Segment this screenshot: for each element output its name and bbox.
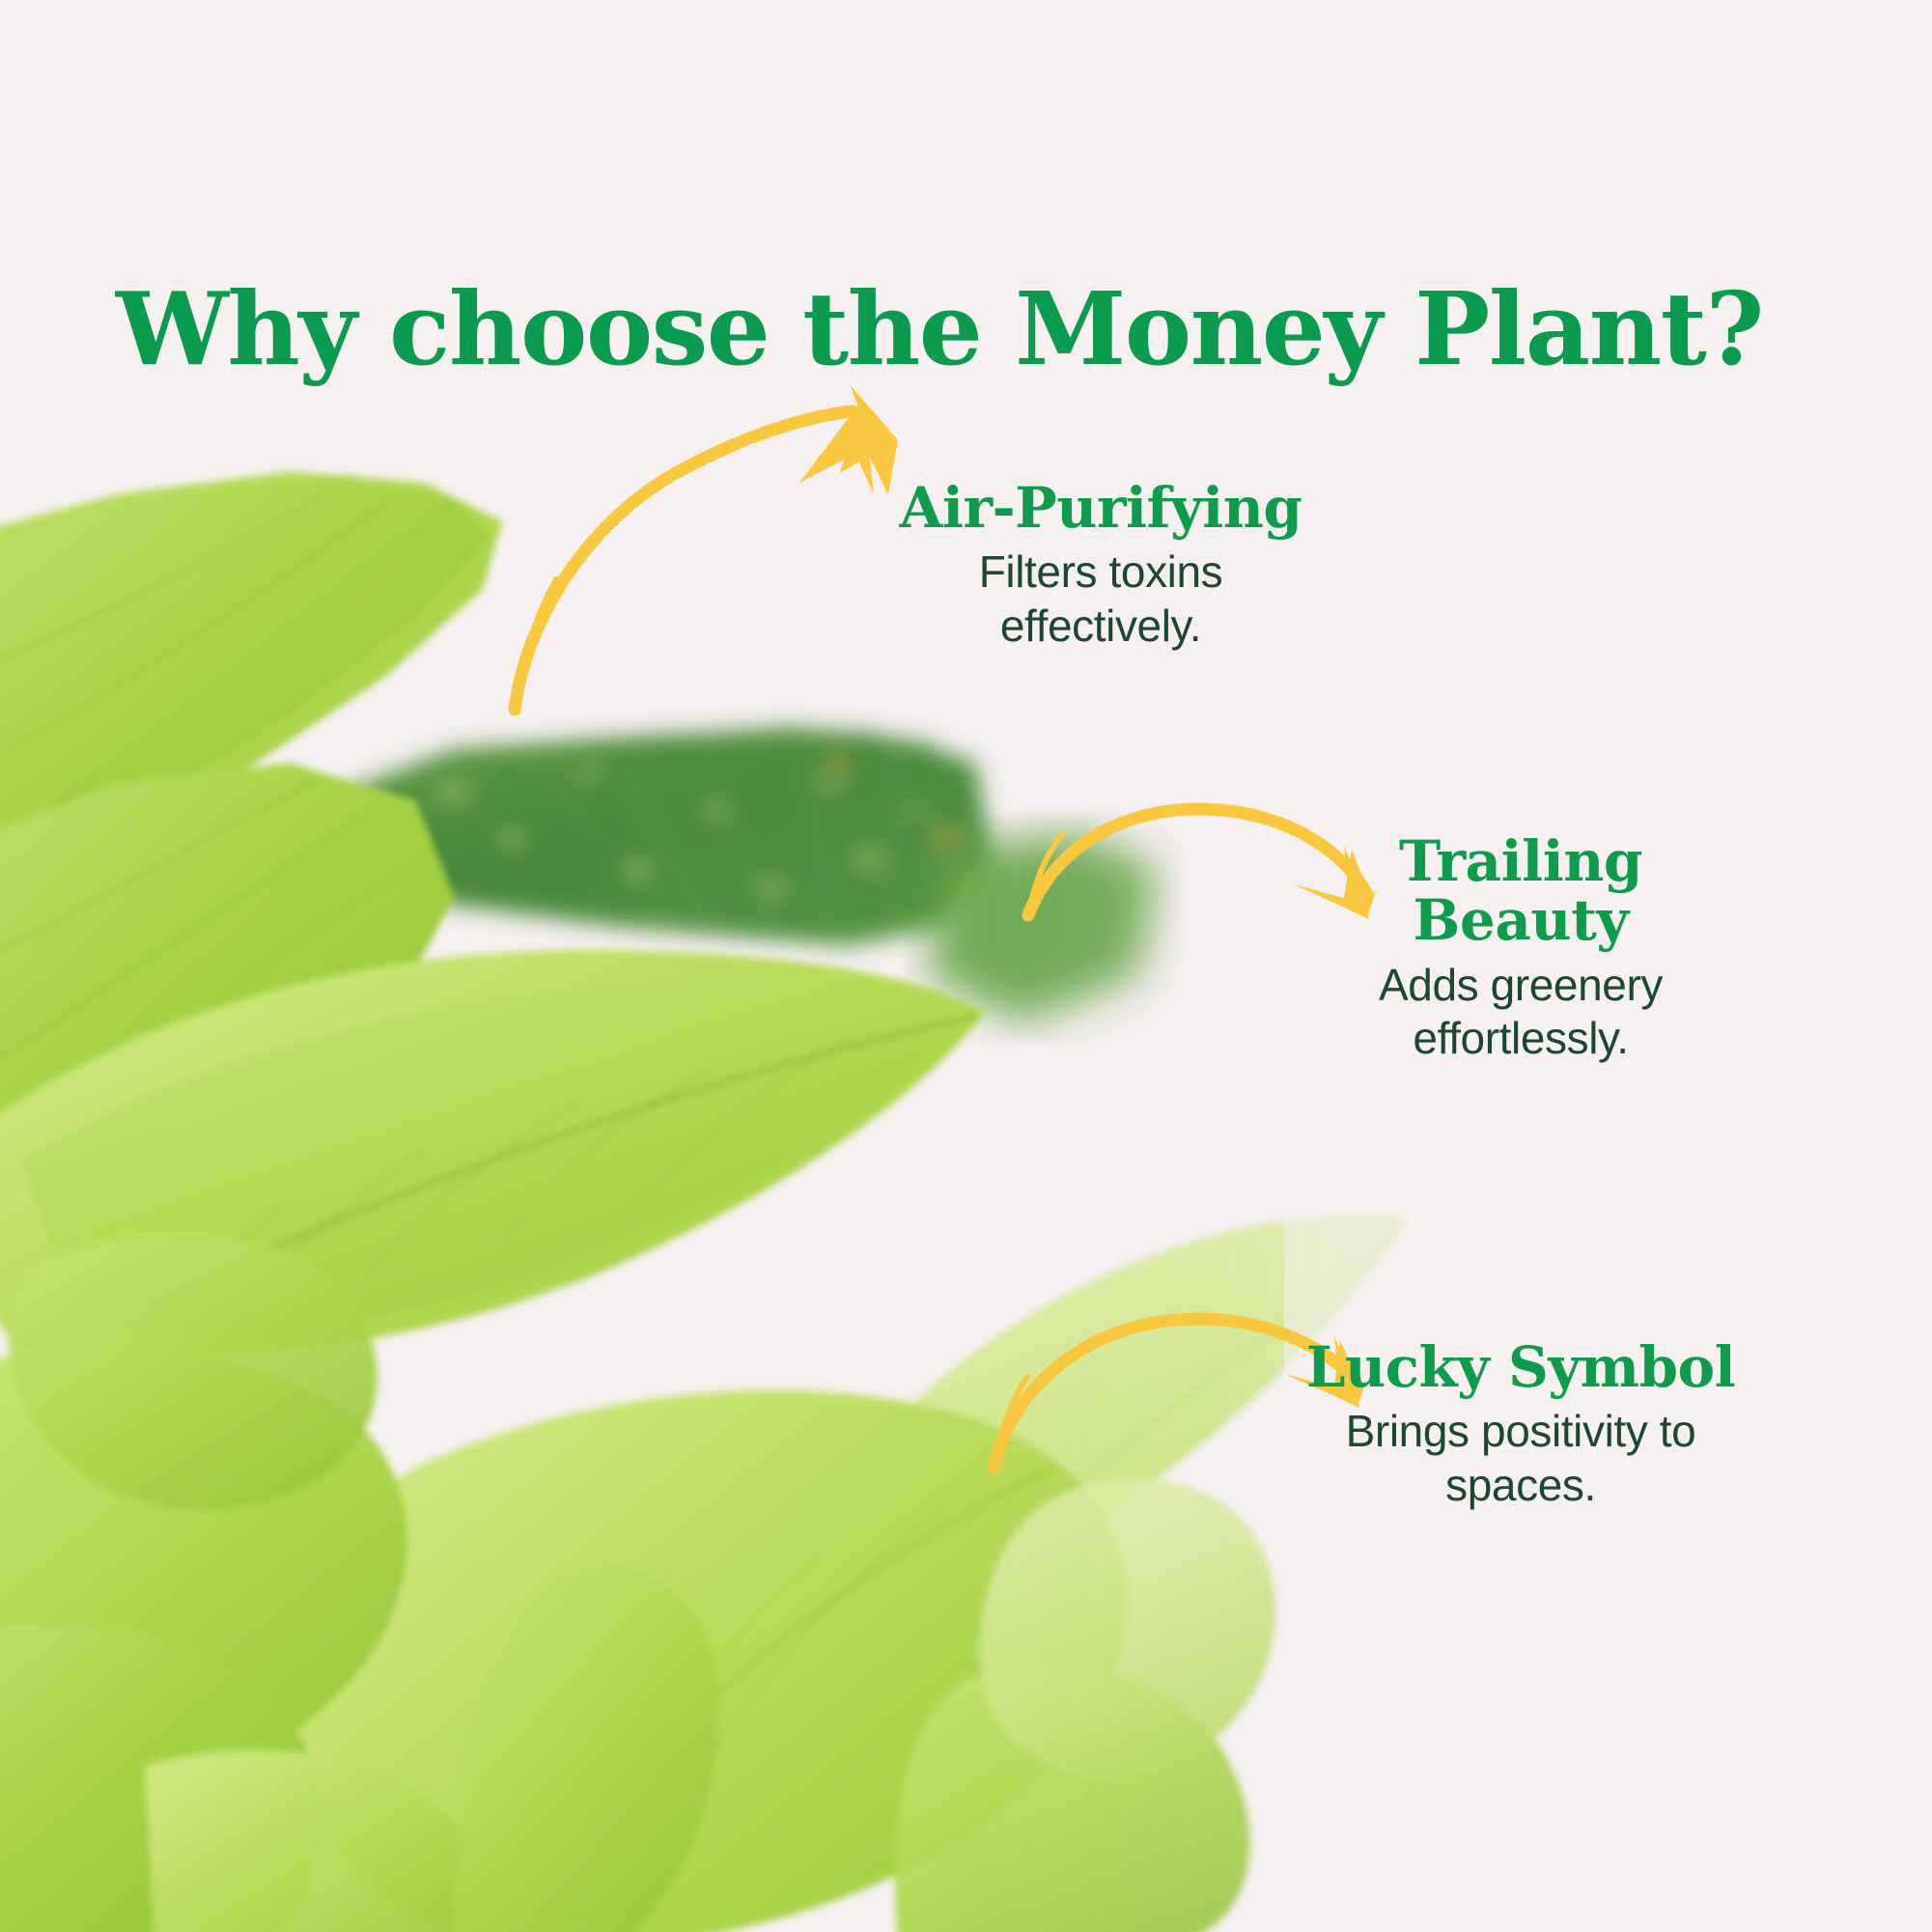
callout-air-purifying: Air-Purifying Filters toxins effectively…	[888, 479, 1313, 653]
page-title: Why choose the Money Plant?	[116, 274, 1763, 384]
callout-body: Adds greenery effortlessly.	[1299, 959, 1743, 1065]
callout-trailing-beauty: Trailing Beauty Adds greenery effortless…	[1299, 832, 1743, 1065]
callout-lucky-symbol: Lucky Symbol Brings positivity to spaces…	[1299, 1338, 1743, 1512]
callout-body: Filters toxins effectively.	[888, 546, 1313, 652]
callout-heading: Lucky Symbol	[1299, 1338, 1743, 1397]
callout-heading: Trailing Beauty	[1299, 832, 1743, 951]
callout-heading: Air-Purifying	[888, 479, 1313, 538]
poster-canvas: Why choose the Money Plant? Air-Purifyin…	[0, 0, 1932, 1932]
callout-body: Brings positivity to spaces.	[1299, 1405, 1743, 1511]
